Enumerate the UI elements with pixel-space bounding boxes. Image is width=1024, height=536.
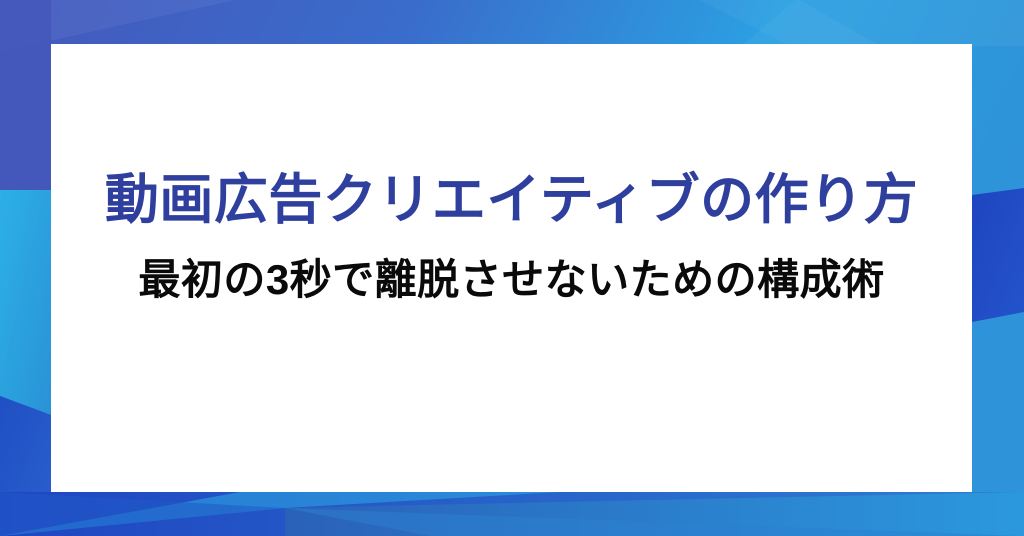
page-subtitle: 最初の3秒で離脱させないための構成術	[138, 255, 884, 305]
banner-canvas: 動画広告クリエイティブの作り方 最初の3秒で離脱させないための構成術	[0, 0, 1024, 536]
content-card: 動画広告クリエイティブの作り方 最初の3秒で離脱させないための構成術	[51, 44, 972, 492]
content-card-inner: 動画広告クリエイティブの作り方 最初の3秒で離脱させないための構成術	[51, 44, 972, 492]
page-title: 動画広告クリエイティブの作り方	[105, 169, 918, 233]
